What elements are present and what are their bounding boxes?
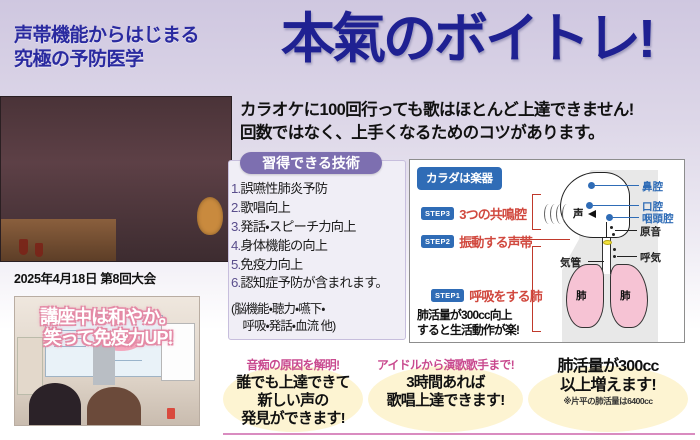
anatomy-badge: カラダは楽器 [417,167,502,190]
airflow-dot [610,226,613,229]
skill-number: 6. [231,275,240,290]
callout-footnote: ※片平の肺活量は6400cc [528,395,688,407]
skills-panel-title: 習得できる技術 [240,152,382,174]
lung-right-label: 肺 [620,288,631,303]
step-text: 呼吸をする肺 [469,286,542,305]
skill-number: 2. [231,200,240,215]
leader-line-kouki [617,256,637,257]
skill-number: 1. [231,181,240,196]
label-exhalation: 呼気 [640,250,661,265]
skill-number: 4. [231,238,240,253]
label-trachea: 気管 [560,255,581,270]
airflow-dot [613,248,616,251]
step-row-1: STEP1呼吸をする肺 [431,286,542,305]
callout-body: 3時間あれば 歌唱上達できます! [368,374,523,410]
nasal-cavity-dot [588,182,595,189]
skill-label: 認知症予防が含まれます。 [240,275,387,290]
step-tag: STEP2 [421,235,454,248]
leader-line-pharyngeal [613,217,639,218]
skill-number: 3. [231,219,240,234]
pharyngeal-cavity-dot [606,214,613,221]
callout-body: 誰でも上達できて 新しい声の 発見ができます! [223,374,363,428]
skill-item: 2.歌唱向上 [229,199,407,218]
photo-glass [19,239,28,255]
lung-capacity-note: 肺活量が300cc向上 すると生活動作が楽! [417,308,519,339]
poster-header: 声帯機能からはじまる 究極の予防医学 本氣のボイトレ! [0,0,700,95]
callout-kicker: アイドルから演歌歌手まで! [368,356,523,373]
leader-line-nasal [595,185,639,186]
callout-body: 肺活量が300cc 以上増えます! [528,357,688,395]
photo-glass [35,243,43,257]
leader-line-genon [615,230,637,231]
skill-item: 4.身体機能の向上 [229,237,407,256]
skills-note: (脳機能・聴力・嚥下・ 呼吸・発話・血流 他) [231,301,407,334]
callout-kicker: 音痴の原因を解明! [223,356,363,373]
step-tag: STEP3 [421,207,454,220]
callout-lung-capacity: 肺活量が300cc 以上増えます! ※片平の肺活量は6400cc [528,356,688,432]
oral-cavity-dot [586,202,593,209]
skill-item: 1.誤嚥性肺炎予防 [229,180,407,199]
ukulele-prop [197,197,223,235]
skills-panel: 習得できる技術 1.誤嚥性肺炎予防 2.歌唱向上 3.発話・スピーチ力向上 4.… [228,160,406,340]
label-original-sound: 原音 [640,224,661,239]
skills-list: 1.誤嚥性肺炎予防 2.歌唱向上 3.発話・スピーチ力向上 4.身体機能の向上 … [229,180,407,293]
skill-item: 6.認知症予防が含まれます。 [229,274,407,293]
group-photo [0,96,232,262]
sound-character-label: 声 [573,206,584,221]
airflow-dot [612,233,615,236]
step-text: 振動する声帯 [459,232,532,251]
skill-item: 5.免疫力向上 [229,256,407,275]
skill-label: 身体機能の向上 [240,238,327,253]
sound-direction-arrow [588,210,596,218]
anatomy-diagram-panel: カラダは楽器 肺 肺 鼻腔 口腔 咽頭腔 原音 呼気 気管 声 STEP33つの… [409,159,685,343]
attendee [87,387,141,426]
skill-label: 歌唱向上 [240,200,290,215]
lung-left-label: 肺 [576,288,587,303]
callout-cause-of-tone-deafness: 音痴の原因を解明! 誰でも上達できて 新しい声の 発見ができます! [223,356,363,432]
leader-line-kikan [588,261,604,262]
poster-title: 本氣のボイトレ! [281,12,653,66]
leader-line-oral [593,205,639,206]
step-tag: STEP1 [431,289,464,302]
step-text: 3つの共鳴腔 [459,204,526,223]
header-subtitle: 声帯機能からはじまる 究極の予防医学 [14,24,199,73]
skill-label: 発話・スピーチ力向上 [240,219,355,234]
group-photo-caption: 2025年4月18日 第8回大会 [14,268,156,287]
seminar-overlay-text: 講座中は和やか。 笑って免疫力UP! [15,307,200,349]
skill-item: 3.発話・スピーチ力向上 [229,218,407,237]
bottom-divider [223,433,695,435]
bracket-resonance [532,194,541,230]
airflow-dot [613,255,616,258]
skill-label: 免疫力向上 [240,257,302,272]
skill-number: 5. [231,257,240,272]
lead-copy: カラオケに100回行っても歌はほとんど上達できません! 回数ではなく、上手くなる… [240,99,698,146]
skill-label: 誤嚥性肺炎予防 [240,181,327,196]
step-row-3: STEP33つの共鳴腔 [421,204,526,223]
attendee [29,383,81,426]
vocal-cord-marker [603,240,612,245]
seminar-photo: 講座中は和やか。 笑って免疫力UP! [14,296,200,426]
label-nasal-cavity: 鼻腔 [642,179,663,194]
callout-three-hours: アイドルから演歌歌手まで! 3時間あれば 歌唱上達できます! [368,356,523,432]
step-row-2: STEP2振動する声帯 [421,232,532,251]
cup [167,408,175,419]
